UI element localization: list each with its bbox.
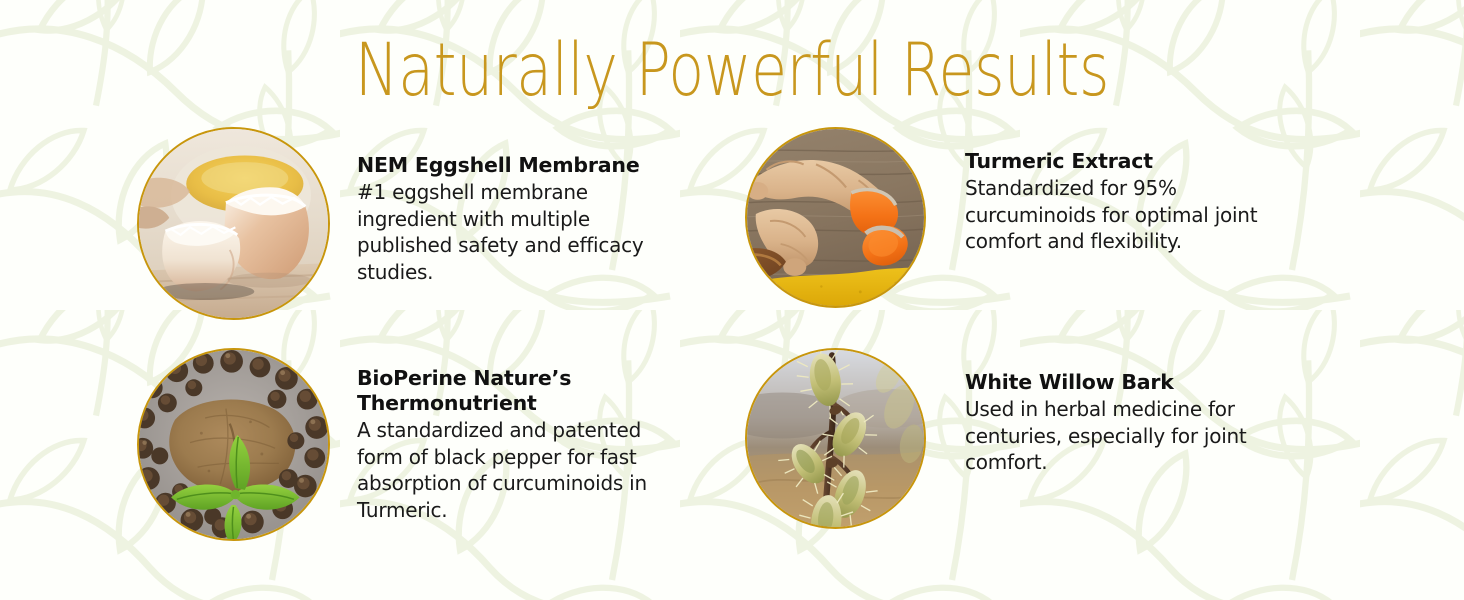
card-title: NEM Eggshell Membrane — [357, 153, 677, 178]
card-title: BioPerine Nature’s Thermonutrient — [357, 366, 677, 416]
card-text-block: White Willow Bark Used in herbal medicin… — [965, 348, 1295, 476]
card-text-block: NEM Eggshell Membrane #1 eggshell membra… — [357, 127, 677, 285]
infographic-canvas: Naturally Powerful Results — [0, 0, 1464, 600]
card-title: Turmeric Extract — [965, 149, 1295, 174]
black-peppercorn-photo — [137, 348, 330, 541]
card-title: White Willow Bark — [965, 370, 1295, 395]
card-text-block: Turmeric Extract Standardized for 95% cu… — [965, 127, 1295, 255]
card-body: A standardized and patented form of blac… — [357, 417, 677, 523]
willow-catkin-photo — [745, 348, 926, 529]
ingredient-card-turmeric-extract: Turmeric Extract Standardized for 95% cu… — [745, 127, 1295, 308]
card-body: Standardized for 95% curcuminoids for op… — [965, 175, 1295, 255]
ingredient-card-bioperine-thermonutrient: BioPerine Nature’s Thermonutrient A stan… — [137, 348, 677, 541]
page-title: Naturally Powerful Results — [146, 34, 1317, 107]
card-body: Used in herbal medicine for centuries, e… — [965, 396, 1295, 476]
eggshell-membrane-photo — [137, 127, 330, 320]
turmeric-root-photo — [745, 127, 926, 308]
ingredient-card-nem-eggshell-membrane: NEM Eggshell Membrane #1 eggshell membra… — [137, 127, 677, 320]
ingredient-card-white-willow-bark: White Willow Bark Used in herbal medicin… — [745, 348, 1295, 529]
card-text-block: BioPerine Nature’s Thermonutrient A stan… — [357, 348, 677, 523]
card-body: #1 eggshell membrane ingredient with mul… — [357, 179, 677, 285]
